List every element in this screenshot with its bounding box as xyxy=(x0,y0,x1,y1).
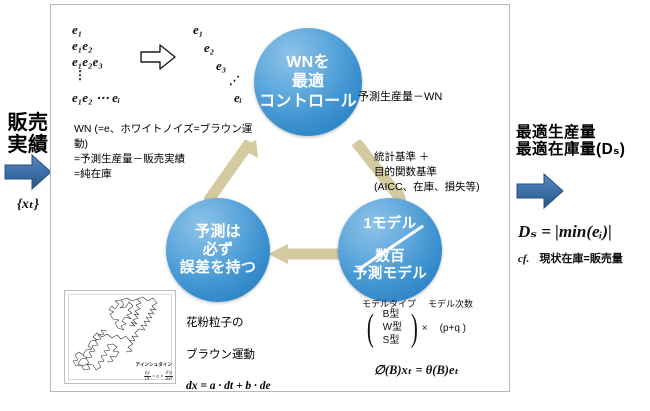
left-panel-title: 販売 実績 xyxy=(5,112,51,157)
sequence-row-ellipsis: ⋮ xyxy=(74,72,86,78)
right-panel-note: cf. 現状在庫=販売量 xyxy=(518,250,650,266)
diagonal-e-1: e₁ xyxy=(193,22,203,38)
cycle-arrow-up-left xyxy=(204,140,274,206)
circle-model-count-bottom2: 予測モデル xyxy=(353,266,427,283)
arma-equation: ∅(B)xₜ = θ(B)eₜ xyxy=(374,362,459,378)
diagonal-e-ellipsis: ⋰ xyxy=(229,74,240,87)
sequence-row-2: e₁e₂ xyxy=(72,38,93,54)
predicted-minus-wn-label: 予測生産量－WN xyxy=(358,90,442,106)
pollen-note-line1: 花粉粒子の xyxy=(186,316,336,332)
right-panel-title: 最適生産量 最適在庫量(Dₛ) xyxy=(516,124,648,159)
right-panel-formula: Dₛ = |min(eᵢ)| xyxy=(518,222,648,242)
right-panel-note-prefix: cf. xyxy=(518,253,529,265)
figure-equation-mid: = a × xyxy=(152,375,164,380)
circle-optimal-control[interactable]: WNを 最適 コントロール xyxy=(254,28,362,136)
blue-right-arrow-icon-left xyxy=(4,152,52,192)
circle-optimal-control-line3: コントロール xyxy=(259,92,357,111)
figure-equation-right-den: ∂x² xyxy=(166,377,172,382)
circle-optimal-control-line2: 最適 xyxy=(259,72,357,91)
matrix-paren-left: ( xyxy=(367,312,374,345)
right-panel-title-line2: 最適在庫量(Dₛ) xyxy=(516,141,648,158)
pollen-note-line2: ブラウン運動 xyxy=(186,348,336,364)
left-panel-variable: {xₜ} xyxy=(5,196,51,213)
left-panel-title-line1: 販売 xyxy=(5,112,51,134)
criteria-note: 統計基準 ＋ 目的関数基準 (AICC、在庫、損失等) xyxy=(374,150,514,196)
figure-equation: ∂y ∂t = a × ∂²y ∂x² xyxy=(144,371,173,382)
right-panel-note-text: 現状在庫=販売量 xyxy=(539,253,622,265)
model-order-value: (p+q ) xyxy=(440,323,466,334)
pollen-equation: dx = a · dt + b · de xyxy=(186,379,336,395)
diagram-canvas: 販売 実績 {xₜ} 最適生産量 最適在庫量(Dₛ) Dₛ = |min(eᵢ)… xyxy=(0,0,650,401)
matrix-brackets: ( B型 W型 S型 ) xyxy=(364,308,421,348)
circle-model-count[interactable]: 1モデル 数百 予測モデル xyxy=(338,198,442,302)
circle-forecast-error-line2: 必ず xyxy=(180,241,257,259)
circle-model-count-top: 1モデル xyxy=(353,216,427,233)
sequence-row-1: e₁ xyxy=(72,22,82,38)
diagonal-e-2: e₂ xyxy=(204,40,214,56)
model-type-1: B型 xyxy=(383,309,402,322)
right-panel-title-line1: 最適生産量 xyxy=(516,124,648,141)
model-type-3: S型 xyxy=(383,335,402,348)
sequence-row-5: e₁e₂ ⋯ eᵢ xyxy=(72,90,120,106)
figure-equation-left: ∂y ∂t xyxy=(144,371,151,382)
cycle-arrow-left xyxy=(268,242,346,266)
times-symbol: × xyxy=(422,323,428,334)
pollen-note: 花粉粒子の ブラウン運動 dx = a · dt + b · de xyxy=(186,300,336,411)
circle-forecast-error[interactable]: 予測は 必ず 誤差を持つ xyxy=(166,198,270,302)
figure-caption: アインシュタイン xyxy=(135,363,172,368)
circle-model-count-bottom1: 数百 xyxy=(353,249,427,266)
brownian-motion-figure: アインシュタイン ∂y ∂t = a × ∂²y ∂x² xyxy=(64,290,176,384)
matrix-column: B型 W型 S型 xyxy=(377,308,408,348)
circle-forecast-error-line3: 誤差を持つ xyxy=(180,259,257,277)
blue-right-arrow-icon-right xyxy=(516,172,564,210)
diagonal-e-last: eᵢ xyxy=(234,90,242,106)
model-type-matrix: ( B型 W型 S型 ) × (p+q ) xyxy=(364,308,466,348)
diagonal-e-3: e₃ xyxy=(216,58,226,74)
figure-equation-right: ∂²y ∂x² xyxy=(165,371,173,382)
circle-optimal-control-line1: WNを xyxy=(259,53,357,72)
circle-forecast-error-line1: 予測は xyxy=(180,223,257,241)
hollow-right-arrow-icon xyxy=(140,44,176,75)
model-type-2: W型 xyxy=(383,322,402,335)
figure-equation-left-den: ∂t xyxy=(145,377,149,382)
matrix-paren-right: ) xyxy=(411,312,418,345)
